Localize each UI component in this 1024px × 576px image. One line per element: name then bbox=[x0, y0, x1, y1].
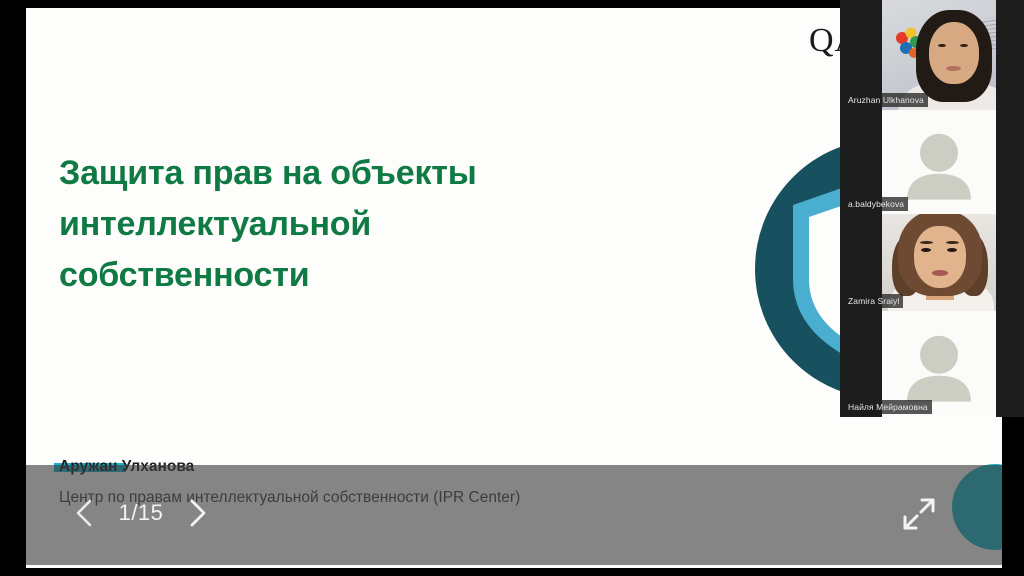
chevron-right-icon[interactable] bbox=[186, 498, 208, 528]
participant-tile[interactable]: a.baldybekova bbox=[840, 110, 1024, 214]
page-indicator: 1/15 bbox=[115, 500, 167, 526]
participant-tile[interactable]: Aruzhan Ulkhanova bbox=[840, 0, 1024, 110]
slide-navigation: 1/15 bbox=[74, 498, 208, 528]
participant-name-label: Aruzhan Ulkhanova bbox=[844, 93, 928, 107]
person-avatar-icon bbox=[901, 130, 977, 200]
screen-share-viewer: QA Защита прав на объекты интеллектуальн… bbox=[0, 0, 1024, 576]
expand-fullscreen-icon[interactable] bbox=[900, 495, 938, 533]
participant-name-label: Найля Мейрамовна bbox=[844, 400, 932, 414]
participant-tile[interactable]: Zamira Sraiyl bbox=[840, 214, 1024, 311]
participant-name-label: Zamira Sraiyl bbox=[844, 294, 903, 308]
chevron-left-icon[interactable] bbox=[74, 498, 96, 528]
person-avatar-icon bbox=[901, 332, 977, 402]
participant-tile[interactable]: Найля Мейрамовна bbox=[840, 311, 1024, 417]
slide-title: Защита прав на объекты интеллектуальной … bbox=[59, 148, 579, 301]
participant-name-label: a.baldybekova bbox=[844, 197, 908, 211]
participant-video-strip: Aruzhan Ulkhanova a.baldybekova bbox=[840, 0, 1024, 417]
slide-control-bar: 1/15 bbox=[26, 465, 1002, 565]
